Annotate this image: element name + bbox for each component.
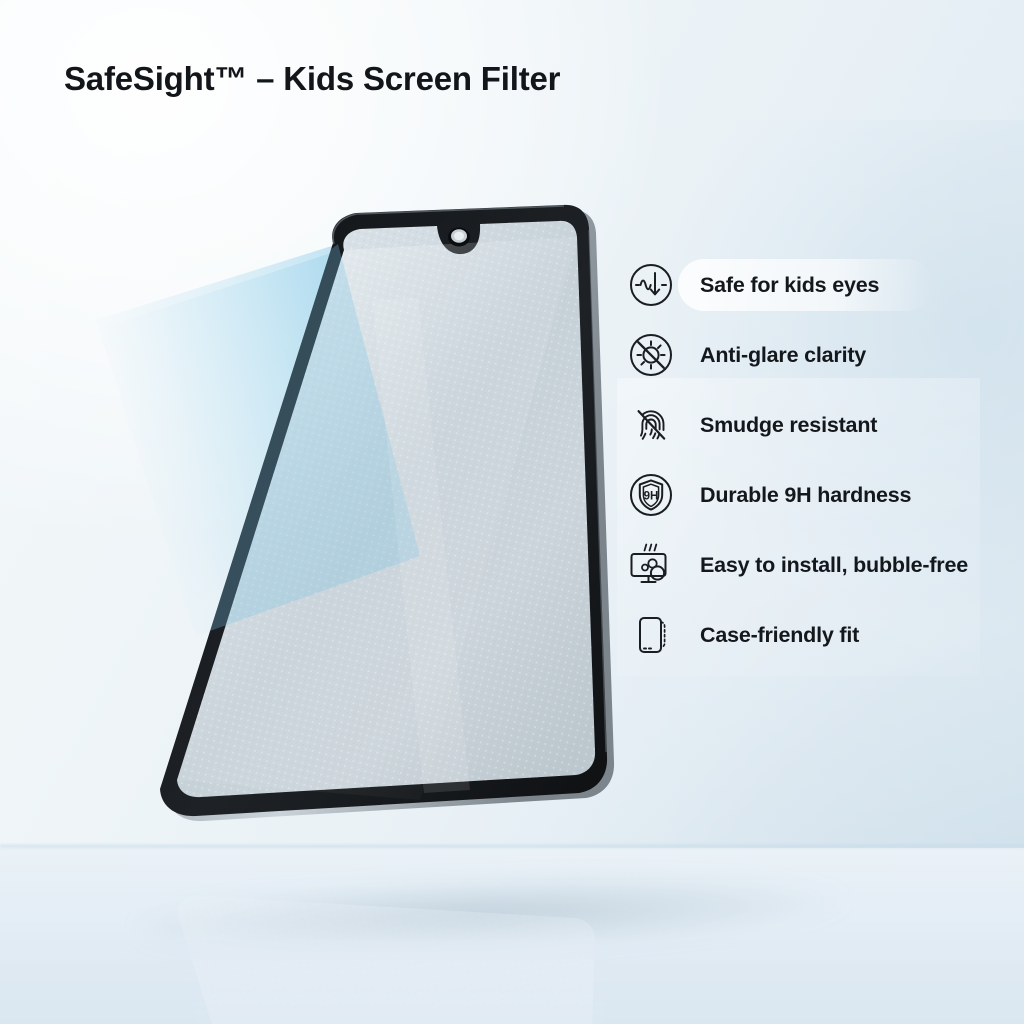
- feature-row-durable-9h-hardness[interactable]: 9H Durable 9H hardness: [620, 460, 1020, 530]
- feature-label: Durable 9H hardness: [700, 483, 911, 508]
- feature-row-anti-glare-clarity[interactable]: Anti-glare clarity: [620, 320, 1020, 390]
- feature-label: Smudge resistant: [700, 413, 877, 438]
- shield-9h-icon: 9H: [624, 468, 678, 522]
- feature-label: Anti-glare clarity: [700, 343, 866, 368]
- no-sun-glare-icon: [624, 328, 678, 382]
- phone-in-case-icon: [624, 608, 678, 662]
- blue-light-waveform-icon: [624, 258, 678, 312]
- feature-row-easy-install-bubble-free[interactable]: Easy to install, bubble-free: [620, 530, 1020, 600]
- svg-text:9H: 9H: [644, 490, 659, 502]
- screen-bubbles-squeegee-icon: [624, 538, 678, 592]
- floor-horizon-line: [0, 845, 1024, 849]
- feature-row-safe-for-kids-eyes[interactable]: Safe for kids eyes: [620, 250, 1020, 320]
- feature-row-smudge-resistant[interactable]: Smudge resistant: [620, 390, 1020, 460]
- feature-label: Safe for kids eyes: [700, 273, 879, 298]
- feature-row-case-friendly-fit[interactable]: Case-friendly fit: [620, 600, 1020, 670]
- feature-label: Easy to install, bubble-free: [700, 553, 968, 578]
- no-fingerprint-icon: [624, 398, 678, 452]
- product-image-canvas: SafeSight™ – Kids Screen Filter Safe for…: [0, 0, 1024, 1024]
- page-title: SafeSight™ – Kids Screen Filter: [64, 60, 560, 98]
- feature-label: Case-friendly fit: [700, 623, 859, 648]
- feature-list: Safe for kids eyes Anti-glare clarity: [620, 250, 1020, 670]
